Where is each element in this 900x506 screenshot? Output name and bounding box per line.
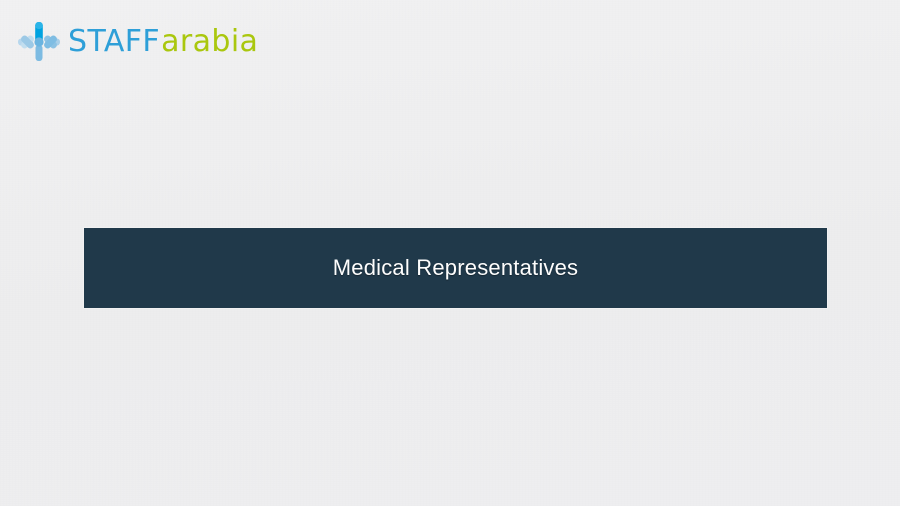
slide-title-text: Medical Representatives: [333, 255, 579, 281]
staffarabia-logo: STAFF arabia: [16, 16, 276, 68]
logo-word-arabia: arabia: [161, 27, 258, 57]
snowflake-asterisk-icon: [16, 19, 62, 65]
logo-wordmark: STAFF arabia: [68, 27, 258, 57]
slide-title-banner: Medical Representatives: [84, 228, 827, 308]
logo-word-staff: STAFF: [68, 27, 160, 57]
presentation-slide: STAFF arabia Medical Representatives: [0, 0, 900, 506]
